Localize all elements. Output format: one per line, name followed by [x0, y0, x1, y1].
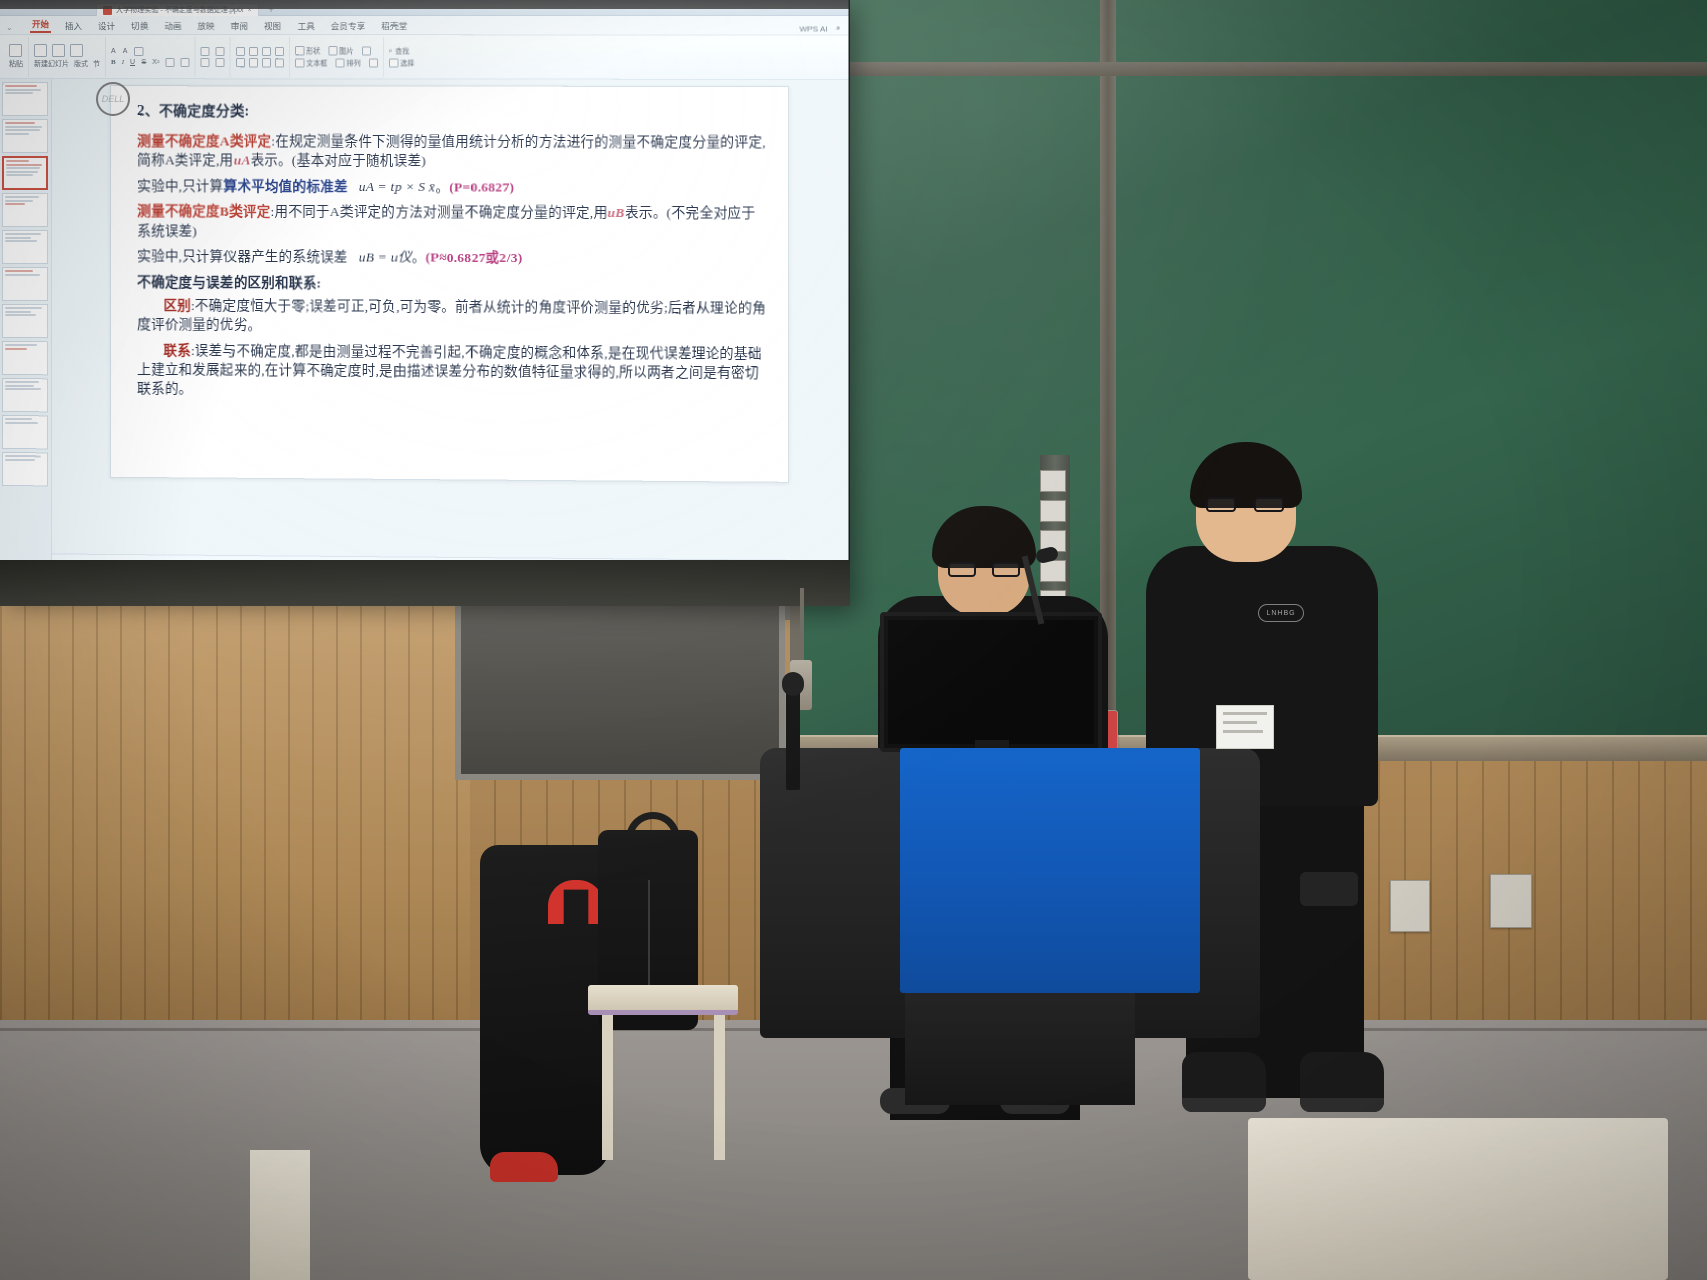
numbered-list-icon[interactable]	[215, 47, 224, 56]
new-slide-button[interactable]: 新建幻灯片	[34, 59, 69, 69]
ribbon-tabbar: ⌄ 开始 插入 设计 切换 动画 放映 审阅 视图 工具 会员专享 稻壳堂 WP…	[0, 16, 849, 35]
ribbon-tab-member[interactable]: 会员专享	[329, 19, 367, 33]
search-icon[interactable]: ⌕	[836, 23, 841, 33]
type-a-formula-emphasis: 算术平均值的标准差	[223, 178, 347, 193]
columns-icon[interactable]	[275, 58, 284, 67]
bullet-list-icon[interactable]	[200, 47, 209, 56]
find-label: 查找	[395, 46, 409, 56]
shapes-label: 形状	[306, 46, 320, 56]
paste-icon[interactable]	[9, 44, 22, 57]
ribbon-tab-home[interactable]: 开始	[30, 17, 51, 33]
difference-text: :不确定度恒大于零;误差可正,可负,可为零。前者从统计的角度评价测量的优劣;后者…	[137, 298, 766, 333]
align-right-icon[interactable]	[262, 47, 271, 56]
line-spacing-icon[interactable]	[215, 58, 224, 67]
slide-thumbnail[interactable]	[2, 304, 48, 338]
underline-button[interactable]: U	[130, 59, 135, 66]
stool-seat	[588, 985, 738, 1015]
wall-switch-plate-1[interactable]	[1390, 880, 1430, 932]
slide-block-type-b-formula: 实验中,只计算仪器产生的系统误差 uB = u仪。(P≈0.6827或2/3)	[137, 247, 768, 269]
ribbon-tab-docer[interactable]: 稻壳堂	[379, 19, 409, 33]
bold-button[interactable]: B	[111, 58, 116, 66]
ribbon-group-editing: ⌕ 查找 选择	[384, 37, 419, 77]
monitor-screen	[888, 620, 1094, 744]
blackboard-divider-horizontal	[800, 62, 1707, 76]
screen-pull-cord[interactable]	[800, 588, 804, 666]
wordart-icon[interactable]	[362, 46, 371, 55]
font-grow-button[interactable]: A	[111, 48, 116, 55]
board-control-button-1[interactable]	[1040, 470, 1066, 492]
slide-canvas[interactable]: 2、不确定度分类: 测量不确定度A类评定:在规定测量条件下测得的量值用统计分析的…	[110, 85, 789, 483]
layout-button[interactable]: 版式	[74, 59, 88, 69]
find-icon: ⌕	[389, 47, 393, 55]
slide-editor-pane: 2、不确定度分类: 测量不确定度A类评定:在规定测量条件下测得的量值用统计分析的…	[52, 79, 849, 604]
difference-label: 区别	[163, 298, 191, 313]
type-b-formula-note: (P≈0.6827或2/3)	[426, 250, 523, 265]
slide-thumbnail[interactable]	[2, 415, 48, 449]
font-color-icon[interactable]	[180, 58, 189, 67]
type-b-text: :用不同于A类评定的方法对测量不确定度分量的评定,用	[271, 204, 608, 220]
ribbon-toolbar: 粘贴 新建幻灯片 版式 节 A	[0, 35, 849, 80]
slide-thumbnail[interactable]: 1	[2, 82, 48, 116]
ribbon-group-clipboard: 粘贴	[4, 37, 29, 77]
fill-icon[interactable]	[369, 58, 378, 67]
wps-ai-button[interactable]: WPS AI	[799, 24, 827, 33]
align-icon[interactable]	[200, 58, 209, 67]
align-left-icon[interactable]	[236, 47, 245, 56]
section-icon[interactable]	[70, 44, 83, 57]
dell-logo: DELL	[96, 82, 130, 116]
compare-title-text: 不确定度与误差的区别和联系:	[137, 274, 321, 290]
shapes-icon	[295, 46, 304, 55]
slide-block-type-a-formula: 实验中,只计算算术平均值的标准差 uA = tp × S x̄。(P=0.682…	[137, 176, 768, 197]
indent-increase-icon[interactable]	[249, 58, 258, 67]
type-b-label: 测量不确定度B类评定	[137, 204, 270, 219]
chevron-down-icon[interactable]: ⌄	[6, 23, 13, 32]
board-control-button-2[interactable]	[1040, 500, 1066, 522]
picture-icon	[328, 46, 337, 55]
slide-thumbnail-pane[interactable]: 1	[0, 79, 52, 596]
slide-thumbnail[interactable]	[2, 267, 48, 301]
type-a-text2: 表示。(基本对应于随机误差)	[251, 153, 427, 169]
select-icon	[389, 58, 398, 67]
type-b-symbol: uB	[608, 205, 625, 220]
window-titlebar: 大学物理实验 - 不确定度与数据处理.pptx × +	[0, 0, 849, 16]
ribbon-tab-tools[interactable]: 工具	[295, 19, 316, 33]
ribbon-group-font: A A B I U S X²	[106, 37, 195, 77]
ribbon-tab-slideshow[interactable]: 放映	[196, 19, 217, 33]
indent-decrease-icon[interactable]	[236, 58, 245, 67]
type-a-formula-note: (P=0.6827)	[449, 179, 514, 194]
type-a-symbol: uA	[233, 153, 250, 168]
textbox-button[interactable]: 文本框	[295, 58, 327, 68]
board-control-button-4[interactable]	[1040, 560, 1066, 582]
stool-leg-right	[714, 1015, 725, 1160]
handheld-microphone-head	[782, 672, 804, 696]
workarea: 1	[0, 79, 849, 604]
find-button[interactable]: ⌕ 查找	[389, 46, 409, 56]
slide-thumbnail[interactable]	[2, 230, 48, 264]
justify-icon[interactable]	[275, 47, 284, 56]
slide-heading: 2、不确定度分类:	[137, 102, 768, 123]
paste-button[interactable]: 粘贴	[9, 59, 23, 69]
ribbon-tab-review[interactable]: 审阅	[229, 19, 250, 33]
type-a-label: 测量不确定度A类评定	[137, 133, 271, 148]
slide-thumbnail[interactable]	[2, 378, 48, 412]
superscript-button[interactable]: X²	[152, 59, 159, 66]
select-label: 选择	[400, 58, 414, 68]
ribbon-tab-transition[interactable]: 切换	[129, 19, 150, 33]
text-direction-icon[interactable]	[262, 58, 271, 67]
projection-screen-bottom-bar	[0, 560, 850, 606]
type-a-formula: uA = tp × S x̄	[359, 179, 436, 194]
person-standing-glasses	[1206, 497, 1286, 514]
person-standing-shoe-left	[1182, 1052, 1266, 1112]
arrange-icon	[335, 58, 344, 67]
ribbon-group-drawing: 形状 图片 文本框	[290, 37, 384, 77]
ribbon-group-slides: 新建幻灯片 版式 节	[29, 37, 106, 77]
slide-thumbnail-selected[interactable]	[2, 156, 48, 190]
section-button[interactable]: 节	[93, 59, 100, 69]
lectern-base	[905, 980, 1135, 1105]
handheld-microphone	[786, 680, 800, 790]
window-frame	[455, 600, 785, 780]
type-b-formula: uB = u仪	[359, 250, 412, 265]
ribbon-group-alignment	[230, 37, 289, 77]
stool	[588, 985, 738, 1160]
ribbon-group-paragraph	[195, 37, 230, 77]
slide-thumbnail[interactable]	[2, 119, 48, 153]
thumbnail-number: 1	[2, 82, 4, 86]
clear-format-icon[interactable]	[135, 47, 144, 56]
classroom-photo: 大学物理实验 - 不确定度与数据处理.pptx × + ⌄ 开始 插入 设计 切…	[0, 0, 1707, 1280]
textbox-label: 文本框	[306, 58, 327, 68]
ribbon-tab-animation[interactable]: 动画	[162, 19, 183, 33]
ribbon-tab-design[interactable]: 设计	[96, 19, 117, 33]
text-highlight-icon[interactable]	[165, 58, 174, 67]
person-seated-glasses	[948, 562, 1022, 578]
arrange-label: 排列	[346, 58, 360, 68]
type-a-formula-prefix: 实验中,只计算	[137, 178, 223, 193]
ribbon-right-group: WPS AI ⌕	[799, 23, 840, 33]
new-slide-icon[interactable]	[34, 44, 47, 57]
font-shrink-button[interactable]: A	[123, 48, 128, 55]
slide-thumbnail[interactable]	[2, 341, 48, 375]
lectern-front-panel: JILIN UNIVERSITY·CHINA 吉林大学 1946	[900, 748, 1200, 993]
strikethrough-button[interactable]: S	[141, 59, 146, 66]
arrange-button[interactable]: 排列	[335, 58, 360, 68]
person-standing-shoe-right	[1300, 1052, 1384, 1112]
slide-thumbnail[interactable]	[2, 452, 48, 486]
connection-text: :误差与不确定度,都是由测量过程不完善引起,不确定度的概念和体系,是在现代误差理…	[137, 343, 761, 396]
shapes-button[interactable]: 形状	[295, 46, 320, 56]
shirt-logo: LNHBG	[1258, 604, 1304, 622]
stool-leg-left	[602, 1015, 613, 1160]
red-shoe	[490, 1152, 558, 1182]
wood-paneling-left	[0, 600, 470, 1070]
align-center-icon[interactable]	[249, 47, 258, 56]
front-desk-right	[1248, 1118, 1668, 1280]
name-card	[1216, 705, 1274, 749]
dell-monitor	[880, 612, 1102, 752]
select-button[interactable]: 选择	[389, 58, 414, 68]
slide-heading-text: 2、不确定度分类:	[137, 104, 249, 119]
connection-label: 联系	[163, 343, 191, 358]
slide-block-difference: 区别:不确定度恒大于零;误差可正,可负,可为零。前者从统计的角度评价测量的优劣;…	[137, 296, 768, 338]
slide-block-connection: 联系:误差与不确定度,都是由测量过程不完善引起,不确定度的概念和体系,是在现代误…	[137, 341, 768, 402]
wall-switch-plate-2[interactable]	[1490, 874, 1532, 928]
person-standing-knee-patch-right	[1300, 872, 1358, 906]
ribbon-tab-view[interactable]: 视图	[262, 19, 283, 33]
italic-button[interactable]: I	[122, 58, 124, 66]
titlebar-dark-strip	[0, 0, 849, 9]
front-desk-left	[250, 1150, 310, 1280]
slide-block-type-b: 测量不确定度B类评定:用不同于A类评定的方法对测量不确定度分量的评定,用uB表示…	[137, 202, 768, 243]
picture-button[interactable]: 图片	[328, 46, 353, 56]
textbox-icon	[295, 58, 304, 67]
slide-thumbnail[interactable]	[2, 193, 48, 227]
type-b-formula-prefix: 实验中,只计算仪器产生的系统误差	[137, 249, 348, 265]
ribbon-tab-insert[interactable]: 插入	[63, 19, 84, 33]
slide-block-compare-title: 不确定度与误差的区别和联系:	[137, 272, 768, 294]
slide-canvas-wrap: 2、不确定度分类: 测量不确定度A类评定:在规定测量条件下测得的量值用统计分析的…	[52, 79, 849, 560]
picture-label: 图片	[339, 46, 353, 56]
slide-block-type-a: 测量不确定度A类评定:在规定测量条件下测得的量值用统计分析的方法进行的测量不确定…	[137, 131, 768, 171]
layout-icon[interactable]	[52, 44, 65, 57]
